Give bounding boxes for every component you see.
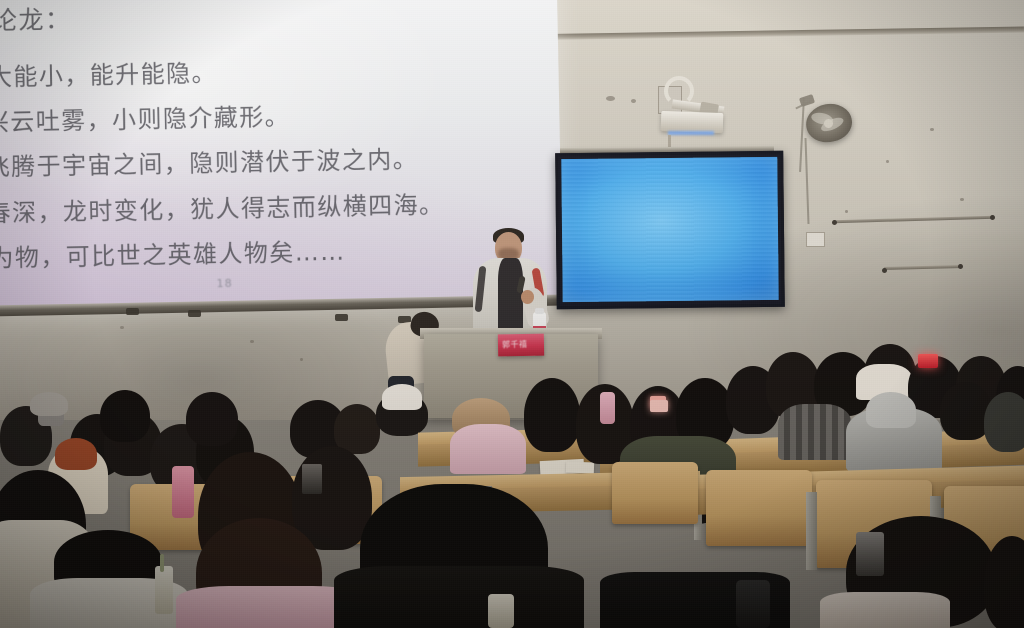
notebook-paper bbox=[566, 462, 594, 474]
cup-with-straw bbox=[155, 566, 173, 614]
projector-led-indicator bbox=[668, 131, 714, 135]
wall-speck bbox=[606, 96, 615, 101]
projector-body bbox=[661, 111, 724, 133]
water-bottle-cap bbox=[535, 308, 544, 314]
slide-page-number: 18 bbox=[216, 277, 232, 290]
wall-speck bbox=[300, 358, 303, 361]
pink-thermos bbox=[600, 392, 615, 424]
seat-back bbox=[706, 470, 812, 546]
display-scanlines bbox=[561, 157, 778, 302]
power-outlet bbox=[806, 232, 825, 247]
wall-rail-cap bbox=[832, 220, 837, 225]
screen-clip bbox=[126, 308, 139, 315]
student-orange-hat bbox=[55, 438, 97, 470]
wall-speck bbox=[250, 340, 254, 343]
lecturer-hand bbox=[521, 290, 534, 304]
wall-speck bbox=[631, 99, 636, 103]
display-screen bbox=[561, 157, 778, 302]
student-black-jacket bbox=[334, 566, 584, 628]
seat-leg bbox=[806, 492, 817, 570]
student-plaid-jacket bbox=[778, 404, 852, 460]
pink-thermos bbox=[172, 466, 194, 518]
nameplate-text: 郭千禧 bbox=[502, 339, 528, 350]
fan-hub bbox=[824, 119, 833, 128]
lecture-hall-photo: 操论龙： 能大能小，能升能隐。 则兴云吐雾，小则隐介藏形。 则飞腾于宇宙之间，隐… bbox=[0, 0, 1024, 628]
slide-title: 操论龙： bbox=[0, 0, 72, 38]
student-pink-coat bbox=[450, 424, 526, 474]
lecturer-vest bbox=[498, 258, 523, 336]
student-head bbox=[186, 392, 238, 446]
student-head bbox=[984, 392, 1024, 452]
student-light-coat bbox=[820, 592, 950, 628]
desk-bottle bbox=[488, 594, 514, 628]
wall-speck bbox=[120, 326, 124, 329]
straw-icon bbox=[160, 554, 164, 572]
student-head bbox=[100, 390, 150, 442]
student-white-hat bbox=[382, 384, 422, 410]
podium-nameplate: 郭千禧 bbox=[498, 334, 544, 357]
phone-screen bbox=[650, 400, 668, 412]
wall-display[interactable] bbox=[555, 151, 785, 309]
seat-back bbox=[612, 462, 698, 524]
wall-speck bbox=[886, 160, 889, 163]
screen-clip bbox=[335, 314, 348, 321]
slide-line-2: 则兴云吐雾，小则隐介藏形。 bbox=[0, 97, 290, 138]
student-head bbox=[524, 378, 580, 452]
slide-line-1: 能大能小，能升能隐。 bbox=[0, 53, 217, 93]
wall-rail-cap bbox=[958, 264, 963, 269]
dark-bottle bbox=[736, 580, 770, 628]
student-hood bbox=[866, 392, 916, 428]
wall-rail-cap bbox=[990, 215, 995, 220]
wall-speck bbox=[930, 128, 934, 131]
slide-line-4: 今春深，龙时变化，犹人得志而纵横四海。 bbox=[0, 185, 445, 229]
wall-speck bbox=[960, 198, 964, 201]
slide-line-3: 则飞腾于宇宙之间，隐则潜伏于波之内。 bbox=[0, 139, 418, 183]
student-beanie-gray bbox=[30, 392, 68, 416]
wall-speck bbox=[845, 210, 848, 213]
phone-device bbox=[302, 464, 322, 494]
phone-screen-red bbox=[918, 354, 938, 368]
screen-clip bbox=[188, 310, 201, 317]
slide-line-5: 之为物，可比世之英雄人物矣…… bbox=[0, 232, 346, 274]
wall-rail-cap bbox=[882, 268, 887, 273]
phone-device bbox=[856, 532, 884, 576]
